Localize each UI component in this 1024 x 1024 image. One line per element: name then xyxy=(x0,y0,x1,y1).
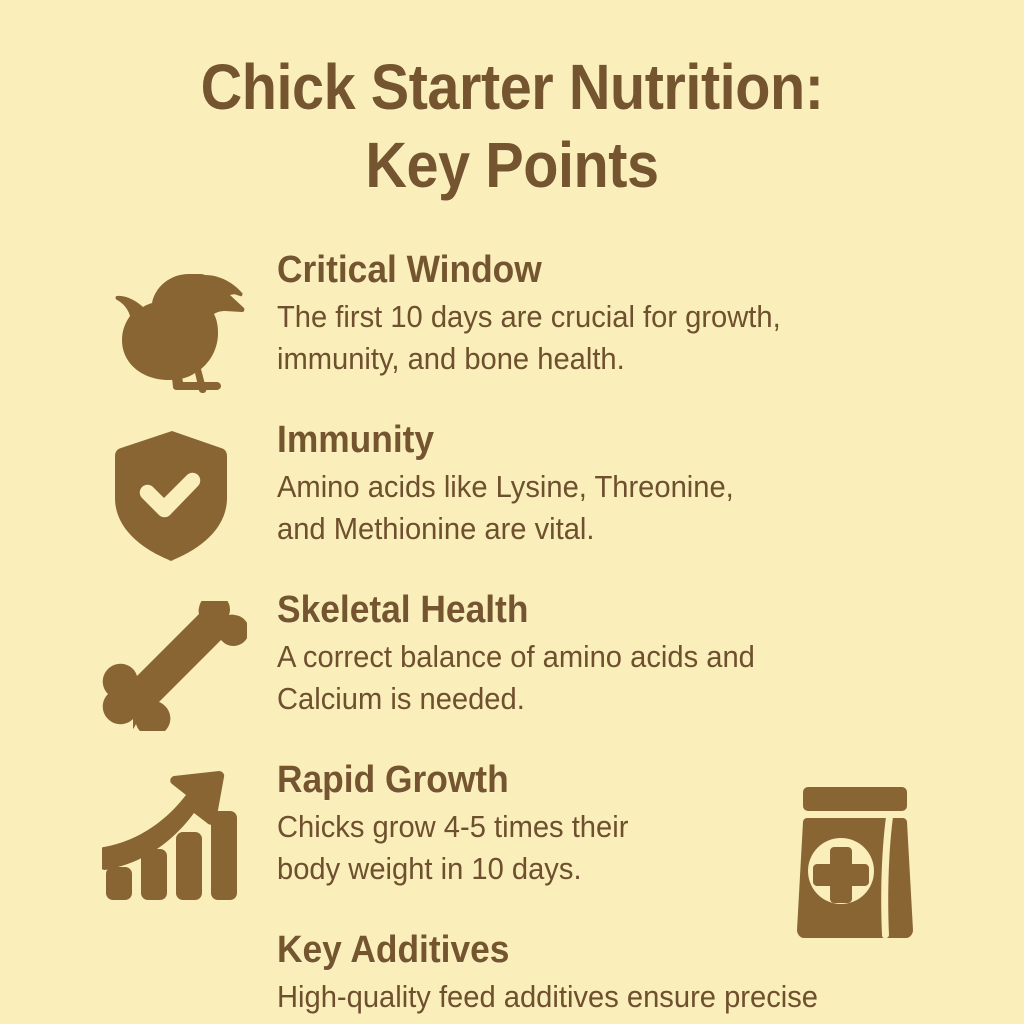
bone-icon xyxy=(88,586,256,746)
list-item-heading: Critical Window xyxy=(277,246,928,294)
list-item-immunity: Immunity Amino acids like Lysine, Threon… xyxy=(0,416,1024,586)
infographic-poster: Chick Starter Nutrition: Key Points Crit… xyxy=(0,0,1024,1024)
body-line-2: Calcium is needed. xyxy=(277,678,935,720)
list-item-text: Immunity Amino acids like Lysine, Threon… xyxy=(277,416,977,550)
body-line-1: The first 10 days are crucial for growth… xyxy=(277,296,935,338)
body-line-1: Amino acids like Lysine, Threonine, xyxy=(277,466,935,508)
body-line-1: A correct balance of amino acids and xyxy=(277,636,935,678)
list-item-body: Amino acids like Lysine, Threonine, and … xyxy=(277,466,935,550)
list-item-body: High-quality feed additives ensure preci… xyxy=(277,976,935,1018)
title-line-2: Key Points xyxy=(51,126,973,204)
body-line-2: and Methionine are vital. xyxy=(277,508,935,550)
list-item-body: The first 10 days are crucial for growth… xyxy=(277,296,935,380)
list-item-skeletal-health: Skeletal Health A correct balance of ami… xyxy=(0,586,1024,756)
list-item-key-additives: Key Additives High-quality feed additive… xyxy=(0,926,1024,1024)
page-title: Chick Starter Nutrition: Key Points xyxy=(0,48,1024,204)
chick-icon xyxy=(88,246,256,406)
list-item-text: Critical Window The first 10 days are cr… xyxy=(277,246,977,380)
list-item-heading: Immunity xyxy=(277,416,928,464)
title-line-1: Chick Starter Nutrition: xyxy=(51,48,973,126)
feed-bag-plus-icon xyxy=(793,785,917,940)
shield-check-icon xyxy=(88,416,256,576)
list-item-body: A correct balance of amino acids and Cal… xyxy=(277,636,935,720)
body-line-2: immunity, and bone health. xyxy=(277,338,935,380)
list-item-critical-window: Critical Window The first 10 days are cr… xyxy=(0,246,1024,416)
body-line-1: High-quality feed additives ensure preci… xyxy=(277,976,935,1018)
growth-chart-icon xyxy=(88,756,256,916)
list-item-text: Skeletal Health A correct balance of ami… xyxy=(277,586,977,720)
list-item-heading: Skeletal Health xyxy=(277,586,928,634)
